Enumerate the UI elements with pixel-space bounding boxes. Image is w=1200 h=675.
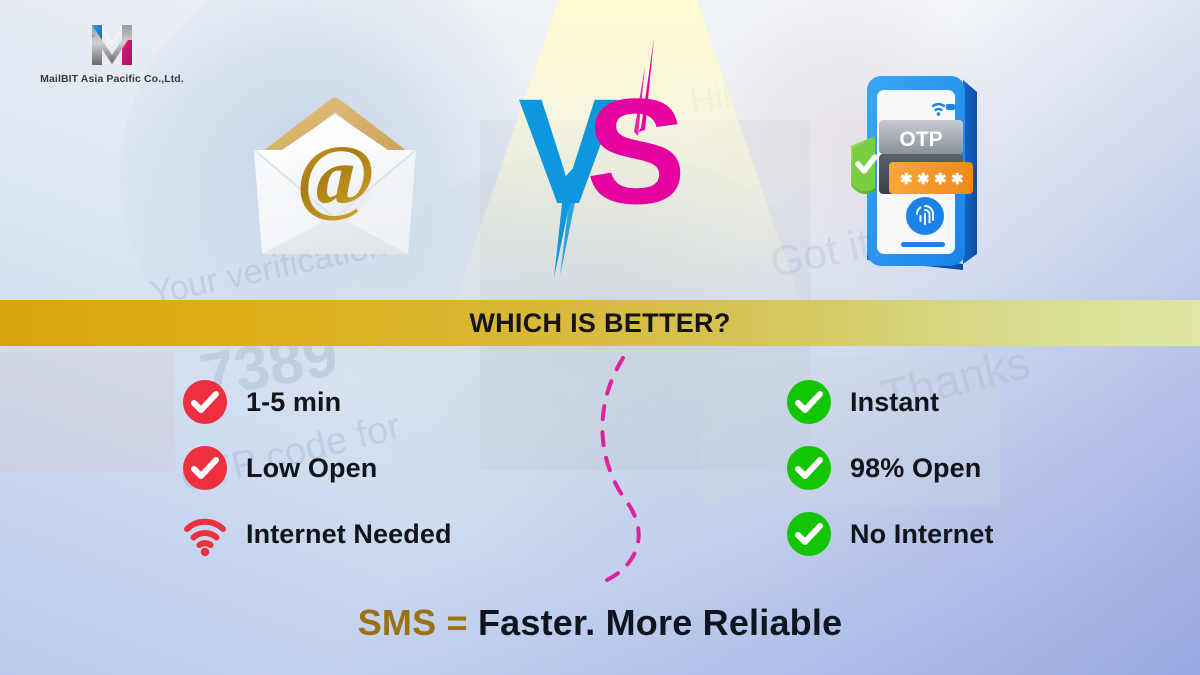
check-circle-icon [182, 379, 228, 425]
shield-check-icon [851, 136, 875, 194]
bottom-tagline: SMS = Faster. More Reliable [0, 602, 1200, 644]
list-item: 98% Open [786, 438, 1166, 498]
brand-logo: MailBIT Asia Pacific Co.,Ltd. [22, 22, 202, 85]
comparison-column-email: 1-5 min Low Open Internet Needed [182, 372, 612, 570]
list-item: Low Open [182, 438, 612, 498]
list-item: No Internet [786, 504, 1166, 564]
svg-text:✱: ✱ [917, 171, 930, 188]
versus-s-letter: S [586, 67, 686, 235]
svg-text:✱: ✱ [934, 171, 947, 188]
check-circle-icon [786, 379, 832, 425]
list-item: Internet Needed [182, 504, 612, 564]
otp-card-label: OTP [899, 128, 942, 151]
otp-phone-icon: OTP ✱✱ ✱✱ [845, 58, 995, 283]
at-symbol-glyph: @ [296, 127, 376, 223]
list-item-label: Internet Needed [246, 519, 452, 550]
list-item-label: 1-5 min [246, 387, 341, 418]
background-strip-left [0, 352, 175, 472]
dashed-curve-divider [575, 352, 675, 584]
which-is-better-banner: WHICH IS BETTER? [0, 300, 1200, 346]
tagline-rest: Faster. More Reliable [478, 602, 842, 643]
check-circle-icon [786, 445, 832, 491]
mailbit-m-logo-icon [86, 22, 138, 68]
tagline-highlight: SMS = [358, 602, 468, 643]
check-circle-icon [182, 445, 228, 491]
list-item-label: Low Open [246, 453, 377, 484]
email-envelope-icon: @ [232, 92, 437, 267]
list-item-label: Instant [850, 387, 939, 418]
versus-graphic: V S [508, 28, 708, 278]
list-item-label: 98% Open [850, 453, 981, 484]
list-item: 1-5 min [182, 372, 612, 432]
wifi-icon [182, 511, 228, 557]
brand-name-label: MailBIT Asia Pacific Co.,Ltd. [22, 73, 202, 85]
comparison-column-sms: Instant 98% Open No Internet [786, 372, 1166, 570]
check-circle-icon [786, 511, 832, 557]
svg-text:✱: ✱ [951, 171, 964, 188]
list-item: Instant [786, 372, 1166, 432]
svg-text:✱: ✱ [900, 171, 913, 188]
banner-title: WHICH IS BETTER? [469, 308, 730, 339]
list-item-label: No Internet [850, 519, 994, 550]
